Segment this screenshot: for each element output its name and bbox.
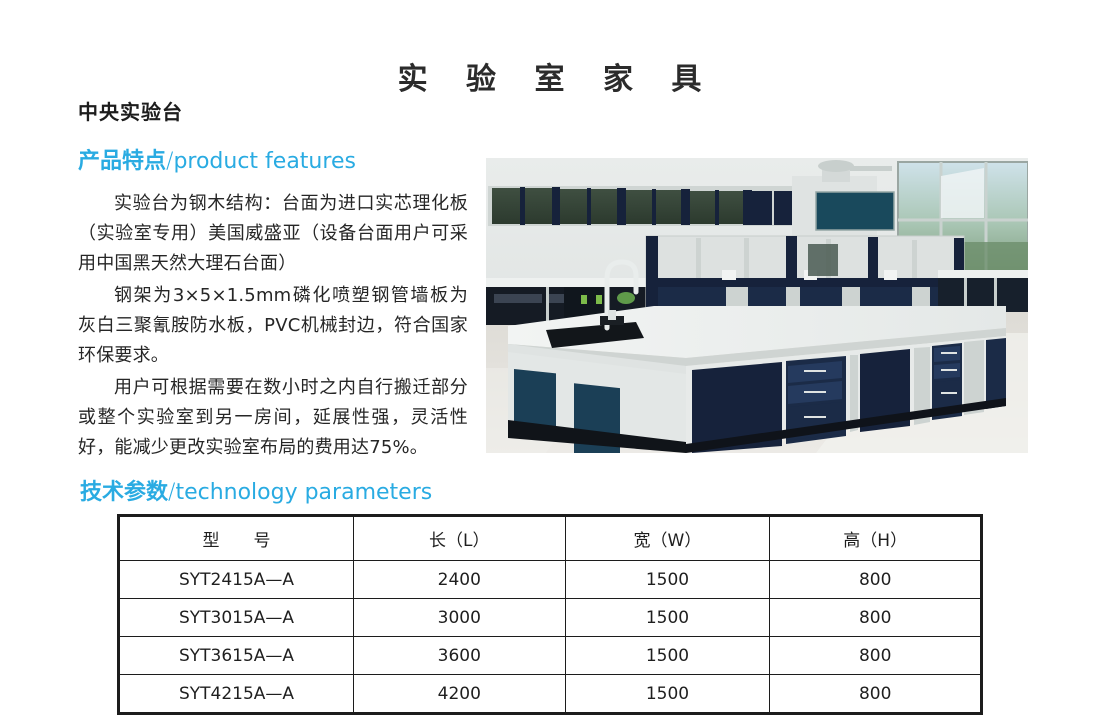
cell-model: SYT3615A—A <box>119 637 354 675</box>
tech-parameters-heading-en: technology parameters <box>175 480 432 505</box>
cell-model: SYT4215A—A <box>119 675 354 714</box>
cell-height: 800 <box>770 637 982 675</box>
cell-model: SYT2415A—A <box>119 561 354 599</box>
spec-table: 型号 长（L） 宽（W） 高（H） SYT2415A—A 2400 1500 8… <box>117 514 983 715</box>
table-row: SYT3015A—A 3000 1500 800 <box>119 599 982 637</box>
spec-table-container: 型号 长（L） 宽（W） 高（H） SYT2415A—A 2400 1500 8… <box>117 514 983 715</box>
header-cell-width: 宽（W） <box>565 516 770 561</box>
tech-parameters-heading-cn: 技术参数 <box>80 480 168 505</box>
product-name-heading: 中央实验台 <box>78 96 468 125</box>
cell-length: 3600 <box>354 637 565 675</box>
table-row: SYT4215A—A 4200 1500 800 <box>119 675 982 714</box>
product-features-heading-cn: 产品特点 <box>78 149 166 174</box>
product-features-body: 实验台为钢木结构：台面为进口实芯理化板（实验室专用）美国威盛亚（设备台面用户可采… <box>78 189 468 463</box>
header-model-left: 型 <box>203 526 220 551</box>
cell-length: 3000 <box>354 599 565 637</box>
laboratory-bench-photo-illustration <box>486 158 1028 453</box>
header-cell-length: 长（L） <box>354 516 565 561</box>
feature-paragraph-2: 钢架为3×5×1.5mm磷化喷塑钢管墙板为灰白三聚氰胺防水板，PVC机械封边，符… <box>78 281 468 371</box>
product-features-heading-en: product features <box>173 149 356 174</box>
laboratory-bench-photo <box>486 158 1028 453</box>
header-model-right: 号 <box>254 526 271 551</box>
table-header-row: 型号 长（L） 宽（W） 高（H） <box>119 516 982 561</box>
cell-height: 800 <box>770 561 982 599</box>
cell-width: 1500 <box>565 599 770 637</box>
cell-length: 2400 <box>354 561 565 599</box>
feature-paragraph-1: 实验台为钢木结构：台面为进口实芯理化板（实验室专用）美国威盛亚（设备台面用户可采… <box>78 189 468 279</box>
table-row: SYT2415A—A 2400 1500 800 <box>119 561 982 599</box>
cell-length: 4200 <box>354 675 565 714</box>
cell-width: 1500 <box>565 675 770 714</box>
page-title: 实 验 室 家 具 <box>0 54 1099 98</box>
product-features-heading: 产品特点/product features <box>78 143 468 175</box>
cell-height: 800 <box>770 675 982 714</box>
header-cell-height: 高（H） <box>770 516 982 561</box>
cell-model: SYT3015A—A <box>119 599 354 637</box>
cell-height: 800 <box>770 599 982 637</box>
table-row: SYT3615A—A 3600 1500 800 <box>119 637 982 675</box>
header-cell-model: 型号 <box>119 516 354 561</box>
left-content-column: 中央实验台 产品特点/product features 实验台为钢木结构：台面为… <box>78 96 468 465</box>
tech-parameters-heading: 技术参数/technology parameters <box>80 474 432 506</box>
feature-paragraph-3: 用户可根据需要在数小时之内自行搬迁部分或整个实验室到另一房间，延展性强，灵活性好… <box>78 373 468 463</box>
cell-width: 1500 <box>565 637 770 675</box>
cell-width: 1500 <box>565 561 770 599</box>
